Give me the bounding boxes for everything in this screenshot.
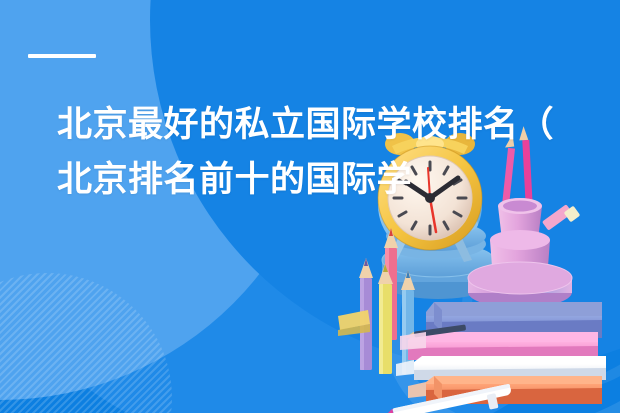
accent-dash <box>28 54 96 58</box>
background-striped-semicircle <box>0 273 172 413</box>
pencil-yellow <box>378 264 393 374</box>
book-pink <box>408 332 598 360</box>
page-title: 北京最好的私立国际学校排名（ 北京排名前十的国际学 <box>57 97 577 207</box>
title-line-2: 北京排名前十的国际学 <box>57 152 577 207</box>
holder-eraser-stick <box>542 204 580 231</box>
sticky-note-left <box>338 310 370 336</box>
title-line-1: 北京最好的私立国际学校排名（ <box>57 97 577 152</box>
article-cover-banner: 北京最好的私立国际学校排名（ 北京排名前十的国际学 <box>0 0 620 413</box>
